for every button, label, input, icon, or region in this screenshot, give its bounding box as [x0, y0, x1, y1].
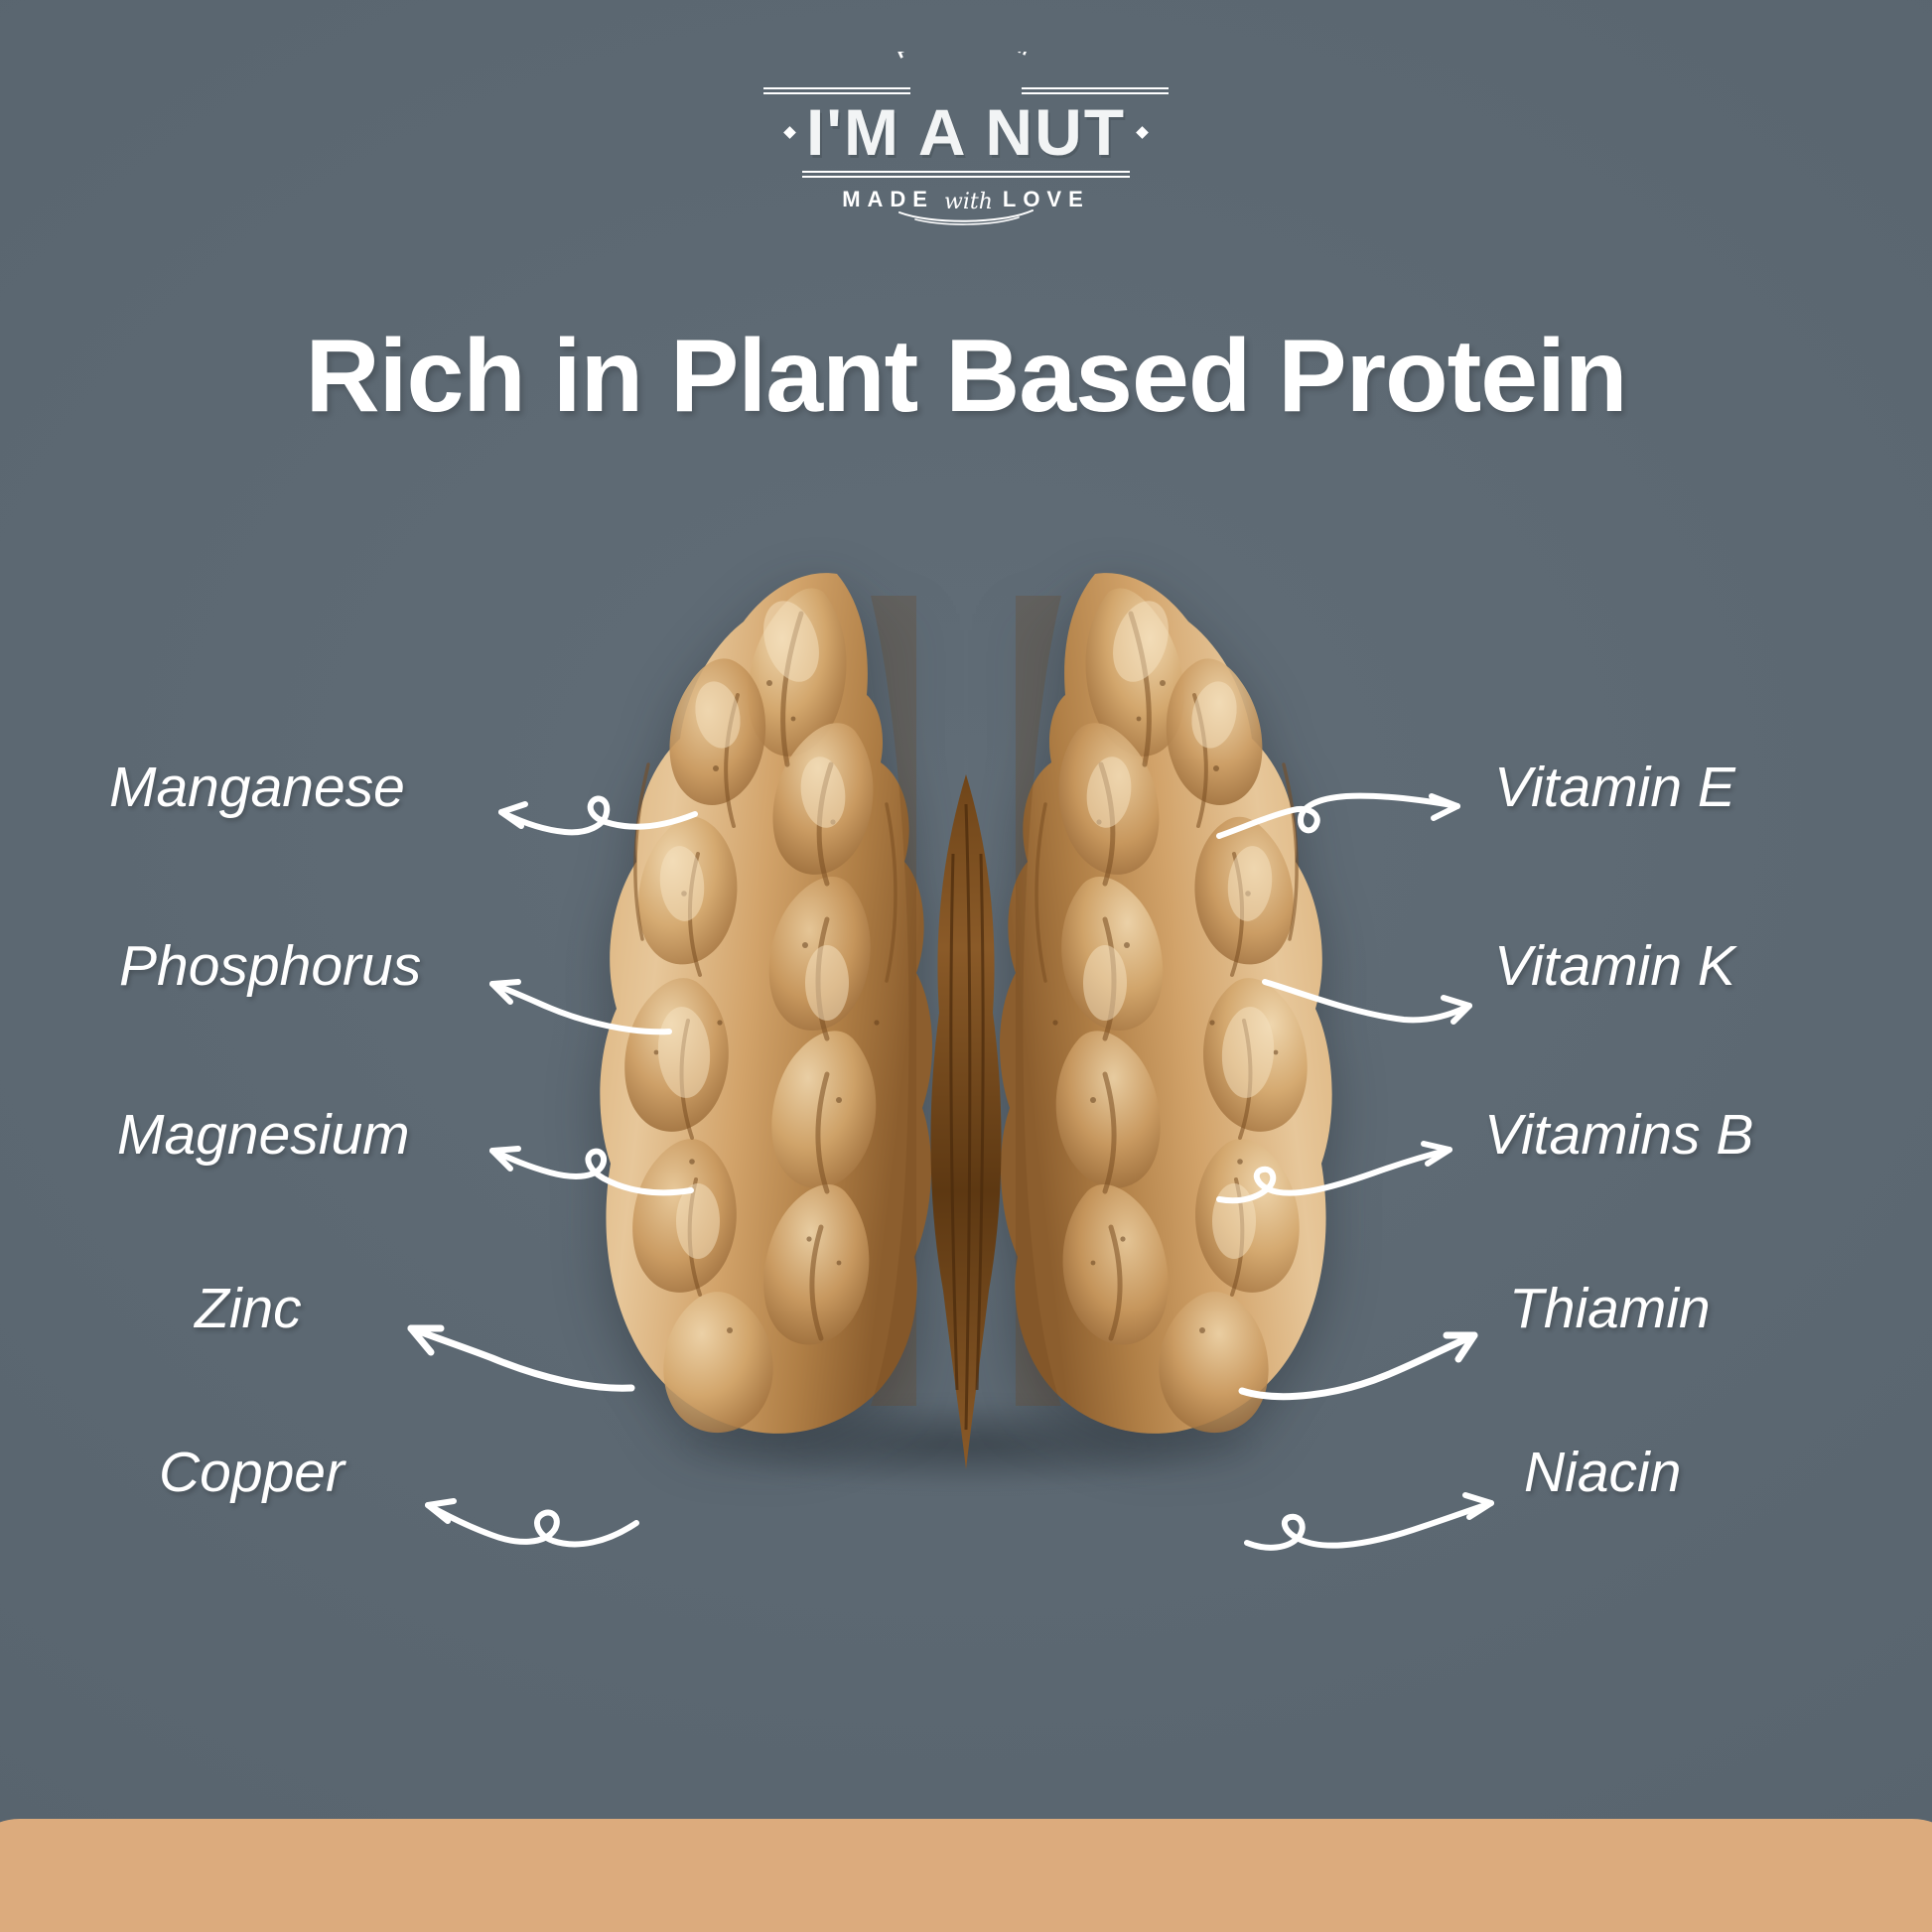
nutrient-label-zinc[interactable]: Zinc [195, 1276, 302, 1341]
infographic-poster: PREMIUM I'M A NUT MADE with LOVE [0, 0, 1932, 1932]
arrow-right-curved-icon-vitamins-b [1213, 1122, 1461, 1209]
arrow-left-curved-icon-copper [412, 1471, 640, 1557]
arrow-left-curved-icon-zinc [397, 1311, 635, 1396]
arrow-right-curved-icon-vitamin-e [1213, 774, 1471, 854]
arrow-right-curved-icon-vitamin-k [1259, 958, 1477, 1037]
arrow-left-curved-icon-manganese [482, 774, 700, 844]
nutrient-label-copper[interactable]: Copper [159, 1440, 345, 1505]
arrow-right-curved-icon-thiamin [1236, 1315, 1484, 1403]
arrow-right-curved-icon-niacin [1241, 1467, 1499, 1557]
arrow-left-curved-icon-phosphorus [475, 958, 673, 1037]
nutrient-label-niacin[interactable]: Niacin [1524, 1440, 1681, 1505]
nutrient-callouts: Manganese Phosphorus Magnesium Zinc [0, 0, 1932, 1932]
nutrient-label-phosphorus[interactable]: Phosphorus [119, 933, 421, 999]
nutrient-label-vitamins-b[interactable]: Vitamins B [1484, 1102, 1753, 1168]
nutrient-label-thiamin[interactable]: Thiamin [1509, 1276, 1711, 1341]
nutrient-label-magnesium[interactable]: Magnesium [117, 1102, 410, 1168]
bottom-accent-bar [0, 1819, 1932, 1932]
nutrient-label-vitamin-k[interactable]: Vitamin K [1494, 933, 1735, 999]
nutrient-label-manganese[interactable]: Manganese [109, 755, 405, 820]
nutrient-label-vitamin-e[interactable]: Vitamin E [1494, 755, 1735, 820]
arrow-left-curved-icon-magnesium [477, 1127, 695, 1206]
